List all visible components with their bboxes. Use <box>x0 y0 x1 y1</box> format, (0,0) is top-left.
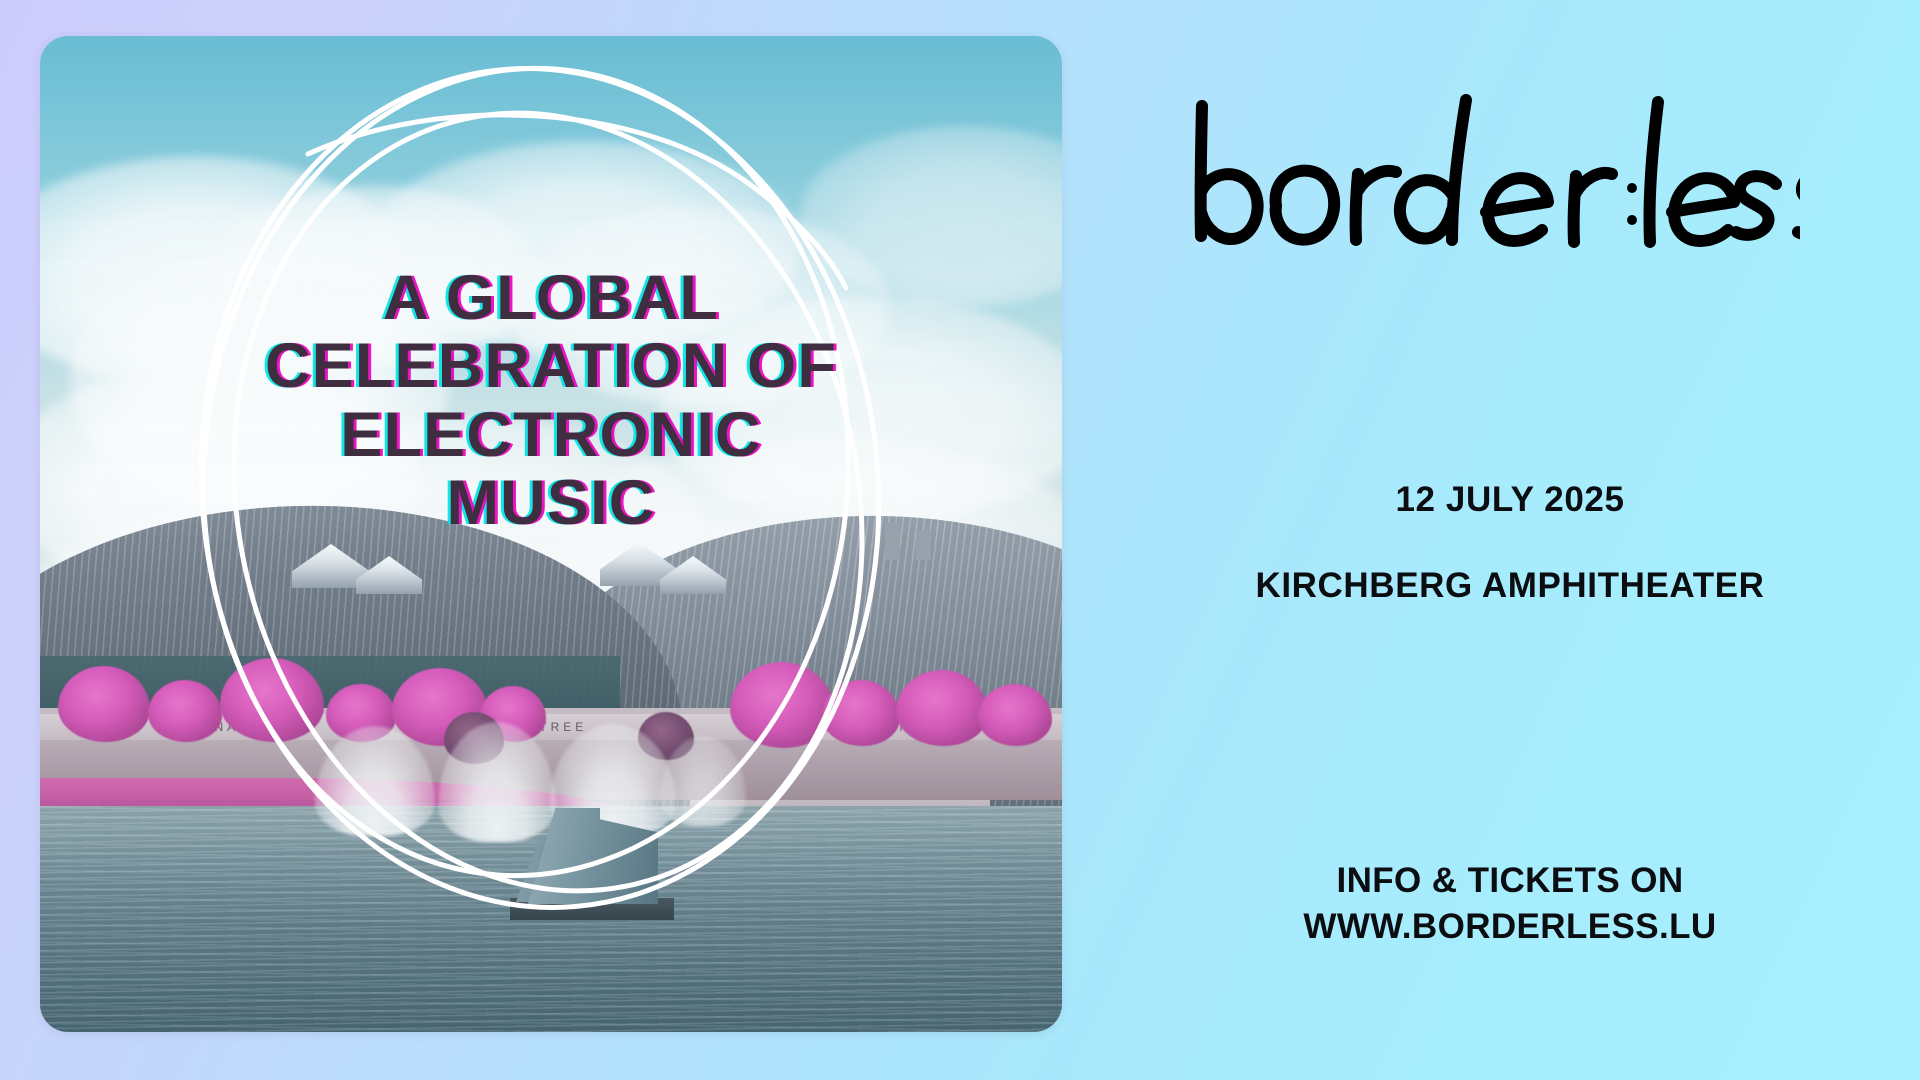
smokestack <box>885 522 900 560</box>
event-photo: ARENA ENTREE ARENA <box>40 36 1062 1032</box>
tickets-cta: INFO & TICKETS ON WWW.BORDERLESS.LU <box>1140 858 1880 950</box>
brand-wordmark-svg <box>1180 88 1800 258</box>
brand-logo <box>1180 88 1840 258</box>
infrared-tree <box>978 684 1052 746</box>
event-poster: ARENA ENTREE ARENA <box>0 0 1920 1080</box>
event-details: 12 JULY 2025 KIRCHBERG AMPHITHEATER <box>1140 480 1880 606</box>
cta-website[interactable]: WWW.BORDERLESS.LU <box>1140 904 1880 950</box>
smokestack <box>916 530 931 560</box>
infrared-tree <box>148 680 222 742</box>
cta-line-1: INFO & TICKETS ON <box>1140 858 1880 904</box>
event-venue: KIRCHBERG AMPHITHEATER <box>1140 566 1880 606</box>
event-date: 12 JULY 2025 <box>1140 480 1880 520</box>
